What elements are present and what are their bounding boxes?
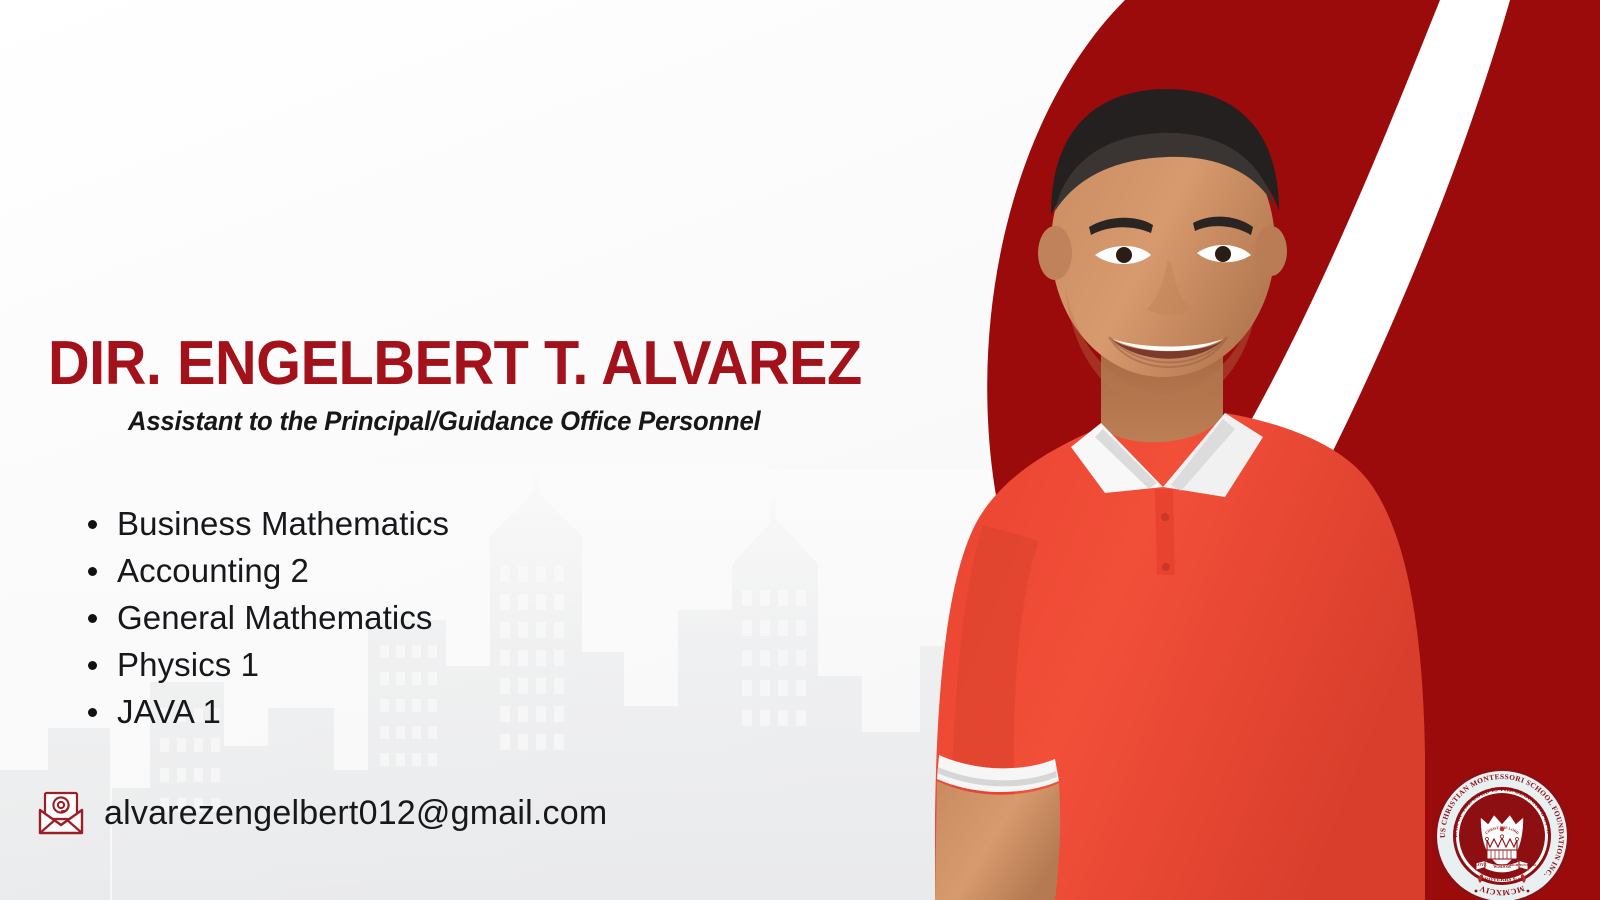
faculty-profile-banner: DIR. ENGELBERT T. ALVAREZ Assistant to t… [0, 0, 1600, 900]
subjects-list: Business Mathematics Accounting 2 Genera… [80, 500, 449, 735]
seal-banner-left: LOVE [1475, 862, 1487, 867]
bullet-dot-icon [88, 567, 97, 576]
role-subtitle: Assistant to the Principal/Guidance Offi… [128, 408, 760, 435]
bullet-dot-icon [88, 520, 97, 529]
text-content: DIR. ENGELBERT T. ALVAREZ Assistant to t… [0, 0, 1000, 900]
list-item: Accounting 2 [80, 547, 449, 594]
list-item: Physics 1 [80, 641, 449, 688]
school-seal-logo: VICTORIOUS CHRISTIAN MONTESSORI SCHOOL F… [1432, 766, 1572, 900]
subject-label: Physics 1 [117, 646, 259, 683]
seal-banner-right: RIGHTEOUSNESS [1510, 863, 1537, 867]
email-address[interactable]: alvarezengelbert012@gmail.com [104, 794, 607, 833]
envelope-at-icon [34, 786, 88, 840]
seal-verse: PROVERBS 9:10 [1481, 877, 1523, 883]
bullet-dot-icon [88, 614, 97, 623]
email-contact-row[interactable]: alvarezengelbert012@gmail.com [34, 786, 607, 840]
page-title: DIR. ENGELBERT T. ALVAREZ [48, 333, 913, 395]
list-item: Business Mathematics [80, 500, 449, 547]
bullet-dot-icon [88, 708, 97, 717]
subject-label: Accounting 2 [117, 552, 309, 589]
subject-label: General Mathematics [117, 599, 433, 636]
list-item: General Mathematics [80, 594, 449, 641]
list-item: JAVA 1 [80, 688, 449, 735]
bullet-dot-icon [88, 661, 97, 670]
subject-label: JAVA 1 [117, 693, 221, 730]
subject-label: Business Mathematics [117, 505, 449, 542]
seal-banner-center: WISDOM [1493, 864, 1511, 869]
